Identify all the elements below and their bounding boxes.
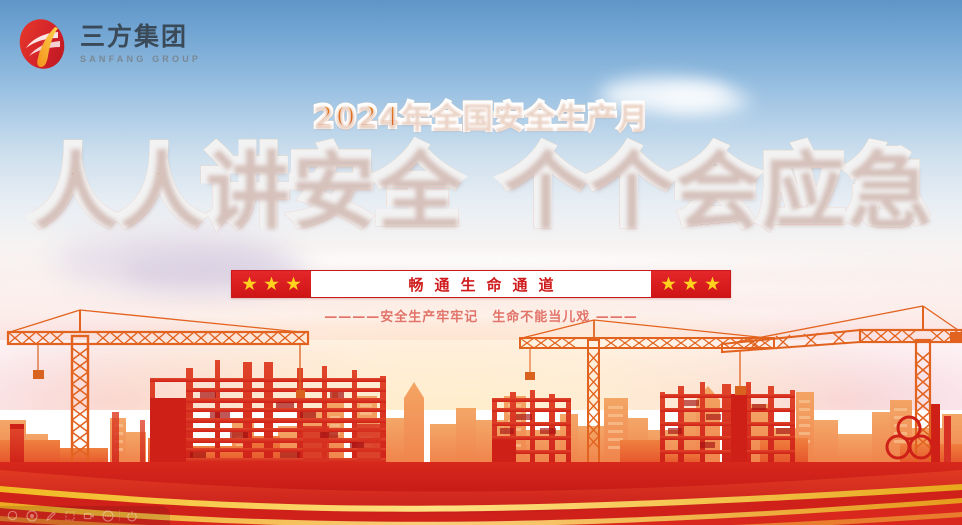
city-construction-skyline xyxy=(0,0,962,525)
headline-left: 人人讲安全 xyxy=(31,143,461,231)
slogan-banner-text: 畅通生命通道 xyxy=(311,271,651,297)
headline-right: 个个会应急 xyxy=(501,143,931,231)
campaign-kicker-text: 2024年全国安全生产月 xyxy=(313,100,649,135)
sanfang-swoosh-logo-icon xyxy=(14,16,70,72)
safety-production-month-poster: 三方集团 SANFANG GROUP 2024年全国安全生产月 人人讲安全个个会… xyxy=(0,0,962,525)
power-icon[interactable] xyxy=(124,508,139,523)
more-dots-icon[interactable] xyxy=(100,508,115,523)
five-point-star-icon xyxy=(242,277,257,292)
pencil-icon[interactable] xyxy=(43,508,58,523)
five-point-star-icon xyxy=(661,277,676,292)
subtitle-line: ————安全生产牢牢记 生命不能当儿戏 ——— xyxy=(0,306,962,325)
brand-name-cn: 三方集团 xyxy=(80,24,201,49)
brand-logo[interactable]: 三方集团 SANFANG GROUP xyxy=(14,16,201,72)
circle-icon[interactable] xyxy=(5,508,20,523)
brand-name-en: SANFANG GROUP xyxy=(80,54,201,64)
record-icon[interactable] xyxy=(24,508,39,523)
crop-frame-icon[interactable] xyxy=(62,508,77,523)
video-camera-icon[interactable] xyxy=(81,508,96,523)
stars-right-group xyxy=(651,271,730,297)
five-point-star-icon xyxy=(264,277,279,292)
five-point-star-icon xyxy=(705,277,720,292)
brand-text-block: 三方集团 SANFANG GROUP xyxy=(80,24,201,64)
stars-left-group xyxy=(232,271,311,297)
five-point-star-icon xyxy=(683,277,698,292)
slogan-banner: 畅通生命通道 xyxy=(231,270,731,298)
page-title: 人人讲安全个个会应急 xyxy=(0,143,962,231)
media-overlay-toolbar[interactable] xyxy=(0,506,170,525)
campaign-kicker: 2024年全国安全生产月 xyxy=(0,92,962,136)
five-point-star-icon xyxy=(286,277,301,292)
toolbar-separator xyxy=(119,510,120,521)
